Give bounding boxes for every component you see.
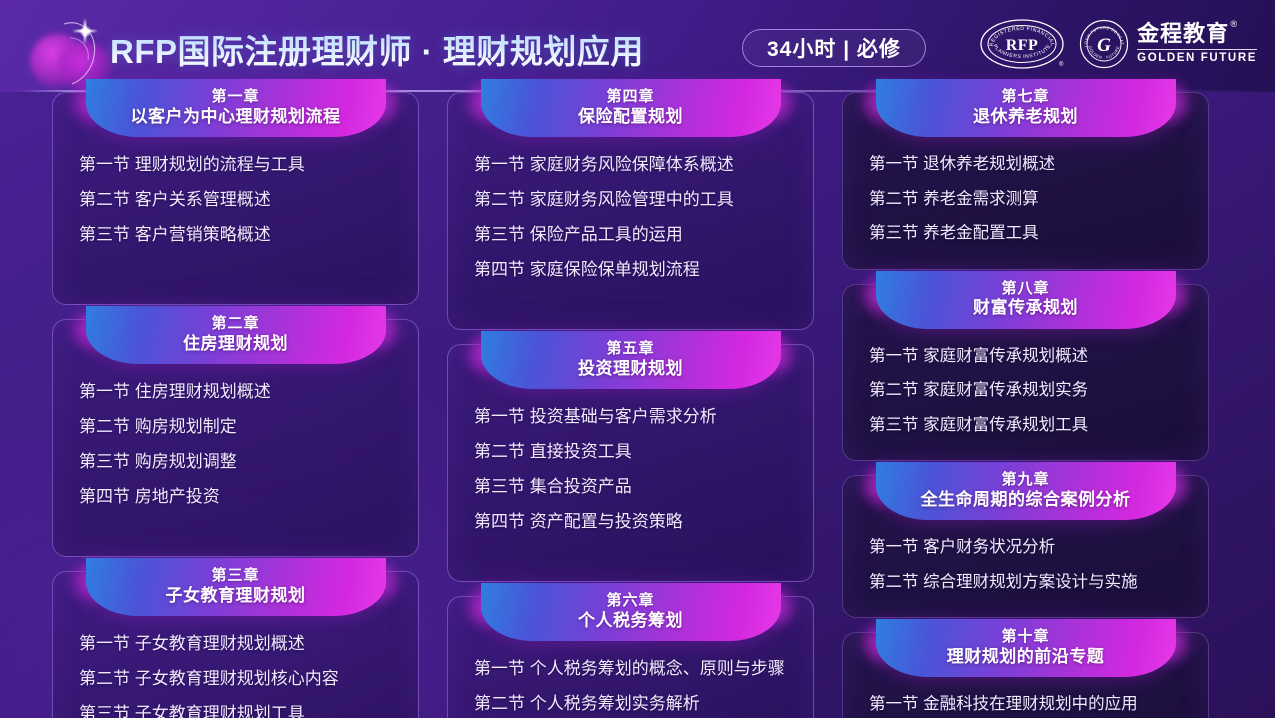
page-title: RFP国际注册理财师 · 理财规划应用	[110, 25, 644, 73]
section-list: 第一节 家庭财务风险保障体系概述第二节 家庭财务风险管理中的工具第三节 保险产品…	[448, 137, 813, 305]
chapter-header-banner: 第九章全生命周期的综合案例分析	[843, 462, 1208, 520]
chapter-number: 第四章	[606, 88, 654, 105]
chapter-header: 第四章保险配置规划	[481, 79, 781, 137]
section-item[interactable]: 第二节 直接投资工具	[474, 434, 813, 469]
chapter-title: 理财规划的前沿专题	[947, 646, 1105, 668]
chapter-header: 第一章以客户为中心理财规划流程	[86, 79, 386, 137]
column-2: 第四章保险配置规划第一节 家庭财务风险保障体系概述第二节 家庭财务风险管理中的工…	[447, 92, 814, 718]
chapter-card[interactable]: 第八章财富传承规划第一节 家庭财富传承规划概述第二节 家庭财富传承规划实务第三节…	[842, 284, 1209, 462]
section-item[interactable]: 第三节 家庭财富传承规划工具	[869, 408, 1208, 443]
chapter-number: 第五章	[606, 340, 654, 357]
section-item[interactable]: 第三节 客户营销策略概述	[79, 217, 418, 252]
chapter-number: 第三章	[211, 567, 259, 584]
chapter-header: 第三章子女教育理财规划	[86, 558, 386, 616]
chapter-number: 第一章	[211, 88, 259, 105]
chapter-card[interactable]: 第九章全生命周期的综合案例分析第一节 客户财务状况分析第二节 综合理财规划方案设…	[842, 475, 1209, 618]
section-list: 第一节 客户财务状况分析第二节 综合理财规划方案设计与实施	[843, 520, 1208, 617]
section-item[interactable]: 第二节 家庭财务风险管理中的工具	[474, 182, 813, 217]
chapter-header: 第五章投资理财规划	[481, 331, 781, 389]
chapter-title: 退休养老规划	[973, 106, 1078, 128]
section-list: 第一节 投资基础与客户需求分析第二节 直接投资工具第三节 集合投资产品第四节 资…	[448, 389, 813, 557]
section-list: 第一节 金融科技在理财规划中的应用第二节 可持续金融与家族责任投资	[843, 677, 1208, 718]
section-item[interactable]: 第二节 客户关系管理概述	[79, 182, 418, 217]
chapter-header-banner: 第十章理财规划的前沿专题	[843, 619, 1208, 677]
golden-future-logo: GOLDEN FUTURE EDUCATION GOLDEN · FUTURE …	[1079, 19, 1257, 69]
chapter-card[interactable]: 第四章保险配置规划第一节 家庭财务风险保障体系概述第二节 家庭财务风险管理中的工…	[447, 92, 814, 330]
section-item[interactable]: 第一节 投资基础与客户需求分析	[474, 399, 813, 434]
golden-future-en-name: GOLDEN FUTURE	[1137, 49, 1257, 65]
chapter-title: 保险配置规划	[578, 106, 683, 128]
chapter-columns: 第一章以客户为中心理财规划流程第一节 理财规划的流程与工具第二节 客户关系管理概…	[0, 92, 1275, 718]
chapter-title: 住房理财规划	[183, 333, 288, 355]
chapter-header: 第七章退休养老规划	[876, 79, 1176, 137]
section-item[interactable]: 第一节 客户财务状况分析	[869, 530, 1208, 565]
section-item[interactable]: 第一节 住房理财规划概述	[79, 374, 418, 409]
section-list: 第一节 退休养老规划概述第二节 养老金需求测算第三节 养老金配置工具	[843, 137, 1208, 269]
chapter-header-banner: 第五章投资理财规划	[448, 331, 813, 389]
chapter-header-banner: 第一章以客户为中心理财规划流程	[53, 79, 418, 137]
chapter-title: 个人税务筹划	[578, 610, 683, 632]
section-list: 第一节 个人税务筹划的概念、原则与步骤第二节 个人税务筹划实务解析第三节 个税汇…	[448, 641, 813, 718]
column-1: 第一章以客户为中心理财规划流程第一节 理财规划的流程与工具第二节 客户关系管理概…	[52, 92, 419, 718]
chapter-title: 财富传承规划	[973, 297, 1078, 319]
chapter-header: 第十章理财规划的前沿专题	[876, 619, 1176, 677]
chapter-number: 第八章	[1001, 280, 1049, 297]
chapter-card[interactable]: 第五章投资理财规划第一节 投资基础与客户需求分析第二节 直接投资工具第三节 集合…	[447, 344, 814, 582]
section-item[interactable]: 第三节 购房规划调整	[79, 444, 418, 479]
section-item[interactable]: 第四节 房地产投资	[79, 479, 418, 514]
section-item[interactable]: 第一节 家庭财务风险保障体系概述	[474, 147, 813, 182]
chapter-number: 第七章	[1001, 88, 1049, 105]
course-outline-page: RFP国际注册理财师 · 理财规划应用 34小时 | 必修 REGISTERED…	[0, 0, 1275, 718]
chapter-card[interactable]: 第七章退休养老规划第一节 退休养老规划概述第二节 养老金需求测算第三节 养老金配…	[842, 92, 1209, 270]
chapter-number: 第九章	[1001, 471, 1049, 488]
section-item[interactable]: 第一节 子女教育理财规划概述	[79, 626, 418, 661]
chapter-header-banner: 第七章退休养老规划	[843, 79, 1208, 137]
section-item[interactable]: 第二节 子女教育理财规划核心内容	[79, 661, 418, 696]
golden-future-cn-text: 金程教育	[1137, 21, 1229, 46]
chapter-number: 第二章	[211, 315, 259, 332]
chapter-header: 第九章全生命周期的综合案例分析	[876, 462, 1176, 520]
sparkle-star-icon	[72, 18, 98, 44]
hours-badge: 34小时 | 必修	[742, 29, 926, 67]
svg-text:®: ®	[1059, 61, 1064, 68]
section-list: 第一节 住房理财规划概述第二节 购房规划制定第三节 购房规划调整第四节 房地产投…	[53, 364, 418, 532]
golden-future-cn-name: 金程教育®	[1137, 23, 1229, 45]
section-item[interactable]: 第三节 保险产品工具的运用	[474, 217, 813, 252]
section-item[interactable]: 第一节 退休养老规划概述	[869, 147, 1208, 182]
section-item[interactable]: 第三节 集合投资产品	[474, 469, 813, 504]
logo-group: REGISTERED FINANCIAL PLANNERS INSTITUTE …	[979, 18, 1257, 70]
golden-future-seal-icon: GOLDEN FUTURE EDUCATION GOLDEN · FUTURE …	[1079, 19, 1129, 69]
chapter-card[interactable]: 第十章理财规划的前沿专题第一节 金融科技在理财规划中的应用第二节 可持续金融与家…	[842, 632, 1209, 718]
chapter-header: 第六章个人税务筹划	[481, 583, 781, 641]
section-item[interactable]: 第四节 家庭保险保单规划流程	[474, 252, 813, 287]
chapter-header-banner: 第六章个人税务筹划	[448, 583, 813, 641]
chapter-title: 子女教育理财规划	[166, 585, 306, 607]
section-list: 第一节 理财规划的流程与工具第二节 客户关系管理概述第三节 客户营销策略概述	[53, 137, 418, 270]
chapter-header-banner: 第八章财富传承规划	[843, 271, 1208, 329]
chapter-header-banner: 第二章住房理财规划	[53, 306, 418, 364]
column-3: 第七章退休养老规划第一节 退休养老规划概述第二节 养老金需求测算第三节 养老金配…	[842, 92, 1209, 718]
chapter-title: 投资理财规划	[578, 358, 683, 380]
section-item[interactable]: 第一节 家庭财富传承规划概述	[869, 339, 1208, 374]
chapter-card[interactable]: 第六章个人税务筹划第一节 个人税务筹划的概念、原则与步骤第二节 个人税务筹划实务…	[447, 596, 814, 718]
chapter-card[interactable]: 第三章子女教育理财规划第一节 子女教育理财规划概述第二节 子女教育理财规划核心内…	[52, 571, 419, 718]
svg-text:G: G	[1097, 35, 1111, 56]
section-list: 第一节 家庭财富传承规划概述第二节 家庭财富传承规划实务第三节 家庭财富传承规划…	[843, 329, 1208, 461]
section-item[interactable]: 第一节 理财规划的流程与工具	[79, 147, 418, 182]
chapter-number: 第十章	[1001, 628, 1049, 645]
section-item[interactable]: 第二节 家庭财富传承规划实务	[869, 373, 1208, 408]
chapter-header-banner: 第四章保险配置规划	[448, 79, 813, 137]
chapter-header: 第二章住房理财规划	[86, 306, 386, 364]
chapter-header: 第八章财富传承规划	[876, 271, 1176, 329]
section-item[interactable]: 第二节 个人税务筹划实务解析	[474, 686, 813, 718]
svg-text:RFP: RFP	[1006, 37, 1039, 54]
registered-mark-icon: ®	[1231, 20, 1239, 29]
chapter-title: 全生命周期的综合案例分析	[921, 489, 1131, 511]
section-item[interactable]: 第二节 购房规划制定	[79, 409, 418, 444]
rfp-seal-logo: REGISTERED FINANCIAL PLANNERS INSTITUTE …	[979, 18, 1065, 70]
chapter-card[interactable]: 第一章以客户为中心理财规划流程第一节 理财规划的流程与工具第二节 客户关系管理概…	[52, 92, 419, 305]
section-item[interactable]: 第三节 养老金配置工具	[869, 216, 1208, 251]
section-item[interactable]: 第三节 子女教育理财规划工具	[79, 696, 418, 718]
section-item[interactable]: 第二节 养老金需求测算	[869, 182, 1208, 217]
section-item[interactable]: 第四节 资产配置与投资策略	[474, 504, 813, 539]
chapter-card[interactable]: 第二章住房理财规划第一节 住房理财规划概述第二节 购房规划制定第三节 购房规划调…	[52, 319, 419, 557]
section-item[interactable]: 第一节 个人税务筹划的概念、原则与步骤	[474, 651, 813, 686]
chapter-title: 以客户为中心理财规划流程	[131, 106, 341, 128]
section-list: 第一节 子女教育理财规划概述第二节 子女教育理财规划核心内容第三节 子女教育理财…	[53, 616, 418, 718]
chapter-header-banner: 第三章子女教育理财规划	[53, 558, 418, 616]
section-item[interactable]: 第一节 金融科技在理财规划中的应用	[869, 687, 1208, 718]
section-item[interactable]: 第二节 综合理财规划方案设计与实施	[869, 565, 1208, 600]
chapter-number: 第六章	[606, 592, 654, 609]
